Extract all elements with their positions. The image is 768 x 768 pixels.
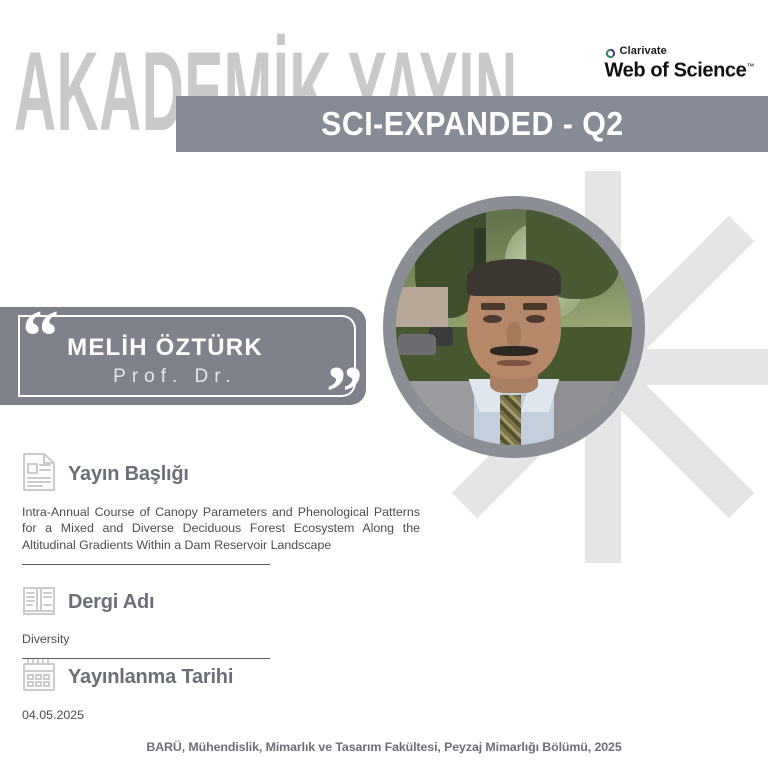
section-publication-date: Yayınlanma Tarihi 04.05.2025 bbox=[22, 658, 322, 723]
section-header: Dergi Adı bbox=[22, 584, 322, 621]
author-academic-title: Prof. Dr. bbox=[0, 366, 350, 388]
clarivate-mark-icon bbox=[605, 46, 616, 57]
footer-affiliation: BARÜ, Mühendislik, Mimarlık ve Tasarım F… bbox=[0, 740, 768, 754]
publication-title-value: Intra-Annual Course of Canopy Parameters… bbox=[22, 504, 420, 553]
photo-eyebrow-left bbox=[481, 303, 505, 310]
section-divider bbox=[22, 564, 270, 565]
document-icon bbox=[22, 452, 56, 497]
section-header: Yayın Başlığı bbox=[22, 452, 420, 497]
photo-car-front bbox=[398, 334, 436, 355]
banner-label: SCI-EXPANDED - Q2 bbox=[321, 105, 623, 143]
section-label: Dergi Adı bbox=[68, 591, 154, 614]
publication-date-value: 04.05.2025 bbox=[22, 707, 322, 723]
photo-mouth bbox=[497, 360, 530, 366]
calendar-icon bbox=[22, 658, 56, 697]
photo-necktie bbox=[500, 395, 521, 445]
logo-product-name: Web of Science™ bbox=[605, 56, 754, 82]
photo-eyebrow-right bbox=[523, 303, 547, 310]
author-name: MELİH ÖZTÜRK bbox=[0, 334, 330, 362]
section-publication-title: Yayın Başlığı Intra-Annual Course of Can… bbox=[22, 452, 420, 565]
section-header: Yayınlanma Tarihi bbox=[22, 658, 322, 697]
journal-name-value: Diversity bbox=[22, 631, 322, 647]
index-quartile-banner: SCI-EXPANDED - Q2 bbox=[176, 96, 768, 152]
logo-product-text: Web of Science bbox=[605, 60, 747, 82]
photo-nose bbox=[507, 322, 521, 348]
photo-moustache bbox=[490, 346, 537, 357]
section-label: Yayın Başlığı bbox=[68, 463, 189, 486]
avatar bbox=[396, 209, 632, 445]
academic-publication-poster: AKADEMİK YAYIN Clarivate Web of Science™… bbox=[0, 0, 768, 768]
section-journal-name: Dergi Adı Diversity bbox=[22, 584, 322, 659]
book-icon bbox=[22, 584, 56, 621]
clarivate-web-of-science-logo: Clarivate Web of Science™ bbox=[605, 45, 754, 82]
photo-hair bbox=[467, 259, 561, 297]
logo-tm-mark: ™ bbox=[746, 62, 754, 71]
section-label: Yayınlanma Tarihi bbox=[68, 666, 233, 689]
